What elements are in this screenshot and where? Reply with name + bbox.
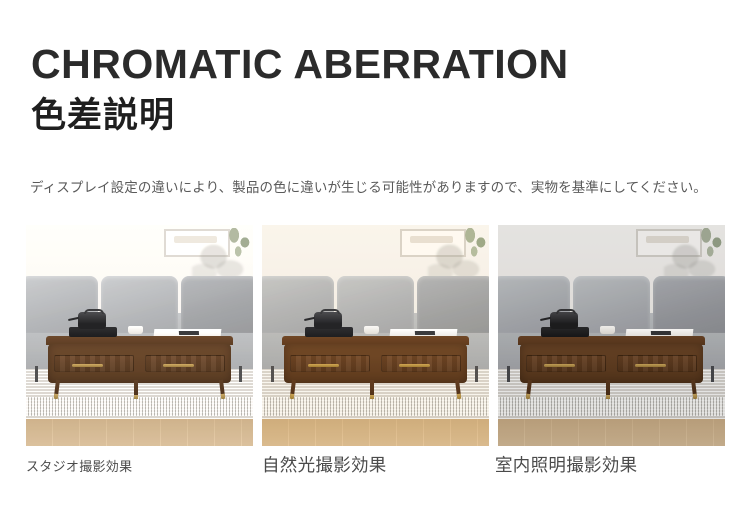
cup <box>128 326 143 335</box>
caption-indoor: 室内照明撮影効果 <box>495 452 637 477</box>
teapot <box>550 312 578 329</box>
cushion <box>417 276 489 333</box>
brass-leg-cap <box>221 394 225 399</box>
sofa-leg <box>35 366 38 381</box>
cushion <box>101 276 178 333</box>
brass-leg-cap <box>693 394 697 399</box>
coffee-table <box>46 336 232 398</box>
brass-leg-cap <box>134 395 138 399</box>
open-book <box>154 329 222 336</box>
page-title-english: CHROMATIC ABERRATION <box>31 42 569 86</box>
caption-studio: スタジオ撮影効果 <box>26 456 132 475</box>
rug-stripe-band <box>498 397 725 416</box>
sofa-leg <box>507 366 510 381</box>
table-body <box>48 344 230 382</box>
rug-stripe-band <box>26 397 253 416</box>
brass-leg-cap <box>457 394 461 399</box>
sofa-cushions <box>262 276 489 333</box>
drawer <box>381 355 461 371</box>
wood-flooring <box>262 419 489 446</box>
color-difference-section: CHROMATIC ABERRATION 色差説明 ディスプレイ設定の違いにより… <box>0 0 750 526</box>
cushion <box>181 276 253 333</box>
photo-panel-studio <box>26 225 253 446</box>
cushion <box>337 276 414 333</box>
drawer <box>145 355 225 371</box>
open-book <box>626 329 694 336</box>
drawer-handle <box>308 364 339 367</box>
coffee-table <box>518 336 704 398</box>
drawer-handle <box>399 364 430 367</box>
wood-flooring <box>26 419 253 446</box>
description-text: ディスプレイ設定の違いにより、製品の色に違いが生じる可能性がありますので、実物を… <box>30 178 745 198</box>
caption-natural: 自然光撮影効果 <box>262 452 387 477</box>
table-body <box>284 344 466 382</box>
sofa-leg <box>239 366 242 381</box>
sofa-cushions <box>26 276 253 333</box>
table-leg <box>134 380 138 399</box>
sofa-leg <box>711 366 714 381</box>
cup <box>600 326 615 335</box>
photo-panel-indoor <box>498 225 725 446</box>
drawer <box>526 355 606 371</box>
table-leg <box>219 380 225 399</box>
open-book <box>390 329 458 336</box>
sofa-cushions <box>498 276 725 333</box>
brass-leg-cap <box>53 394 57 399</box>
drawer-handle <box>635 364 666 367</box>
drawer <box>617 355 697 371</box>
table-leg <box>606 380 610 399</box>
drawer <box>54 355 134 371</box>
living-room-photo <box>26 225 253 446</box>
sofa-leg <box>271 366 274 381</box>
table-leg <box>525 380 531 399</box>
brass-leg-cap <box>289 394 293 399</box>
living-room-photo <box>498 225 725 446</box>
table-leg <box>455 380 461 399</box>
cup <box>364 326 379 335</box>
drawer-handle <box>544 364 575 367</box>
cushion <box>573 276 650 333</box>
living-room-photo <box>262 225 489 446</box>
table-leg <box>53 380 59 399</box>
drawer <box>290 355 370 371</box>
table-body <box>520 344 702 382</box>
photo-panel-natural <box>262 225 489 446</box>
table-leg <box>691 380 697 399</box>
rug-stripe-band <box>262 397 489 416</box>
teapot <box>78 312 106 329</box>
drawer-handle <box>72 364 103 367</box>
cushion <box>653 276 725 333</box>
brass-leg-cap <box>370 395 374 399</box>
wood-flooring <box>498 419 725 446</box>
photo-gallery <box>26 225 725 446</box>
coffee-table <box>282 336 468 398</box>
table-leg <box>370 380 374 399</box>
drawer-handle <box>163 364 194 367</box>
page-title-japanese: 色差説明 <box>31 96 175 136</box>
teapot <box>314 312 342 329</box>
table-leg <box>289 380 295 399</box>
brass-leg-cap <box>525 394 529 399</box>
sofa-leg <box>475 366 478 381</box>
brass-leg-cap <box>606 395 610 399</box>
